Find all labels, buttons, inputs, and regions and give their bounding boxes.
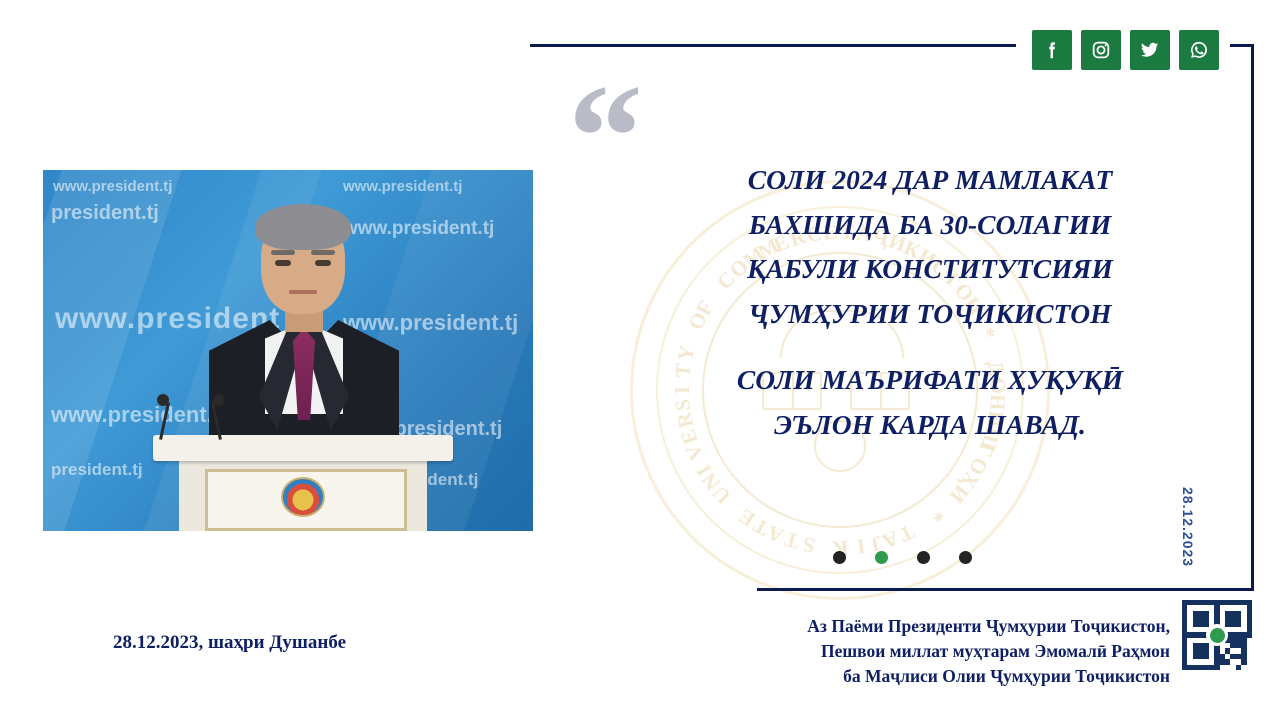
top-divider: [530, 44, 1016, 47]
twitter-icon[interactable]: [1130, 30, 1170, 70]
photo-watermark-text: president.tj: [51, 460, 143, 480]
quote-line: ЭЪЛОН КАРДА ШАВАД.: [660, 403, 1200, 448]
attribution-line: Аз Паёми Президенти Ҷумҳурии Тоҷикистон,: [640, 614, 1170, 639]
eye-left: [275, 260, 291, 266]
qr-center-logo: [1206, 624, 1228, 646]
instagram-icon[interactable]: [1081, 30, 1121, 70]
quote-line: ҚАБУЛИ КОНСТИТУТСИЯИ: [660, 247, 1200, 292]
quote-mark-icon: “: [568, 62, 637, 212]
whatsapp-icon[interactable]: [1179, 30, 1219, 70]
photo-watermark-text: www.president.tj: [343, 178, 462, 195]
bottom-divider: [757, 588, 1187, 591]
quote-line: БАХШИДА БА 30-СОЛАГИИ: [660, 203, 1200, 248]
photo-watermark-text: www.president.tj: [51, 402, 226, 428]
decorative-dots: [833, 551, 972, 564]
eyebrow-left: [271, 250, 295, 255]
microphone-head-icon: [213, 394, 225, 406]
right-vertical-rule: [1251, 44, 1254, 588]
dot: [917, 551, 930, 564]
eyebrow-right: [311, 250, 335, 255]
photo-watermark-text: www.president.tj: [53, 178, 172, 195]
president-photo: www.president.tj www.president.tj presid…: [43, 170, 533, 531]
podium-top: [153, 435, 453, 461]
bottom-right-corner-rule: [1180, 588, 1254, 591]
attribution-line: ба Маҷлиси Олии Ҷумҳурии Тоҷикистон: [640, 664, 1170, 689]
quote-line: СОЛИ 2024 ДАР МАМЛАКАТ: [660, 158, 1200, 203]
quote-line: СОЛИ МАЪРИФАТИ ҲУҚУҚӢ: [660, 358, 1200, 403]
dot-green: [875, 551, 888, 564]
quote-text: СОЛИ 2024 ДАР МАМЛАКАТ БАХШИДА БА 30-СОЛ…: [660, 158, 1200, 447]
facebook-icon[interactable]: [1032, 30, 1072, 70]
vertical-date-code: 28.12.2023: [1180, 487, 1196, 567]
dot: [833, 551, 846, 564]
qr-code[interactable]: [1179, 597, 1255, 673]
attribution: Аз Паёми Президенти Ҷумҳурии Тоҷикистон,…: [640, 614, 1170, 690]
hair: [255, 204, 351, 250]
mouth: [289, 290, 317, 294]
quote-line: ҶУМҲУРИИ ТОҶИКИСТОН: [660, 292, 1200, 337]
attribution-line: Пешвои миллат муҳтарам Эмомалӣ Раҳмон: [640, 639, 1170, 664]
podium: [153, 435, 453, 531]
state-emblem-icon: [281, 477, 325, 517]
social-links[interactable]: [1032, 30, 1219, 70]
dot: [959, 551, 972, 564]
date-place-label: 28.12.2023, шаҳри Душанбе: [113, 632, 346, 654]
photo-watermark-text: president.tj: [51, 202, 159, 225]
eye-right: [315, 260, 331, 266]
